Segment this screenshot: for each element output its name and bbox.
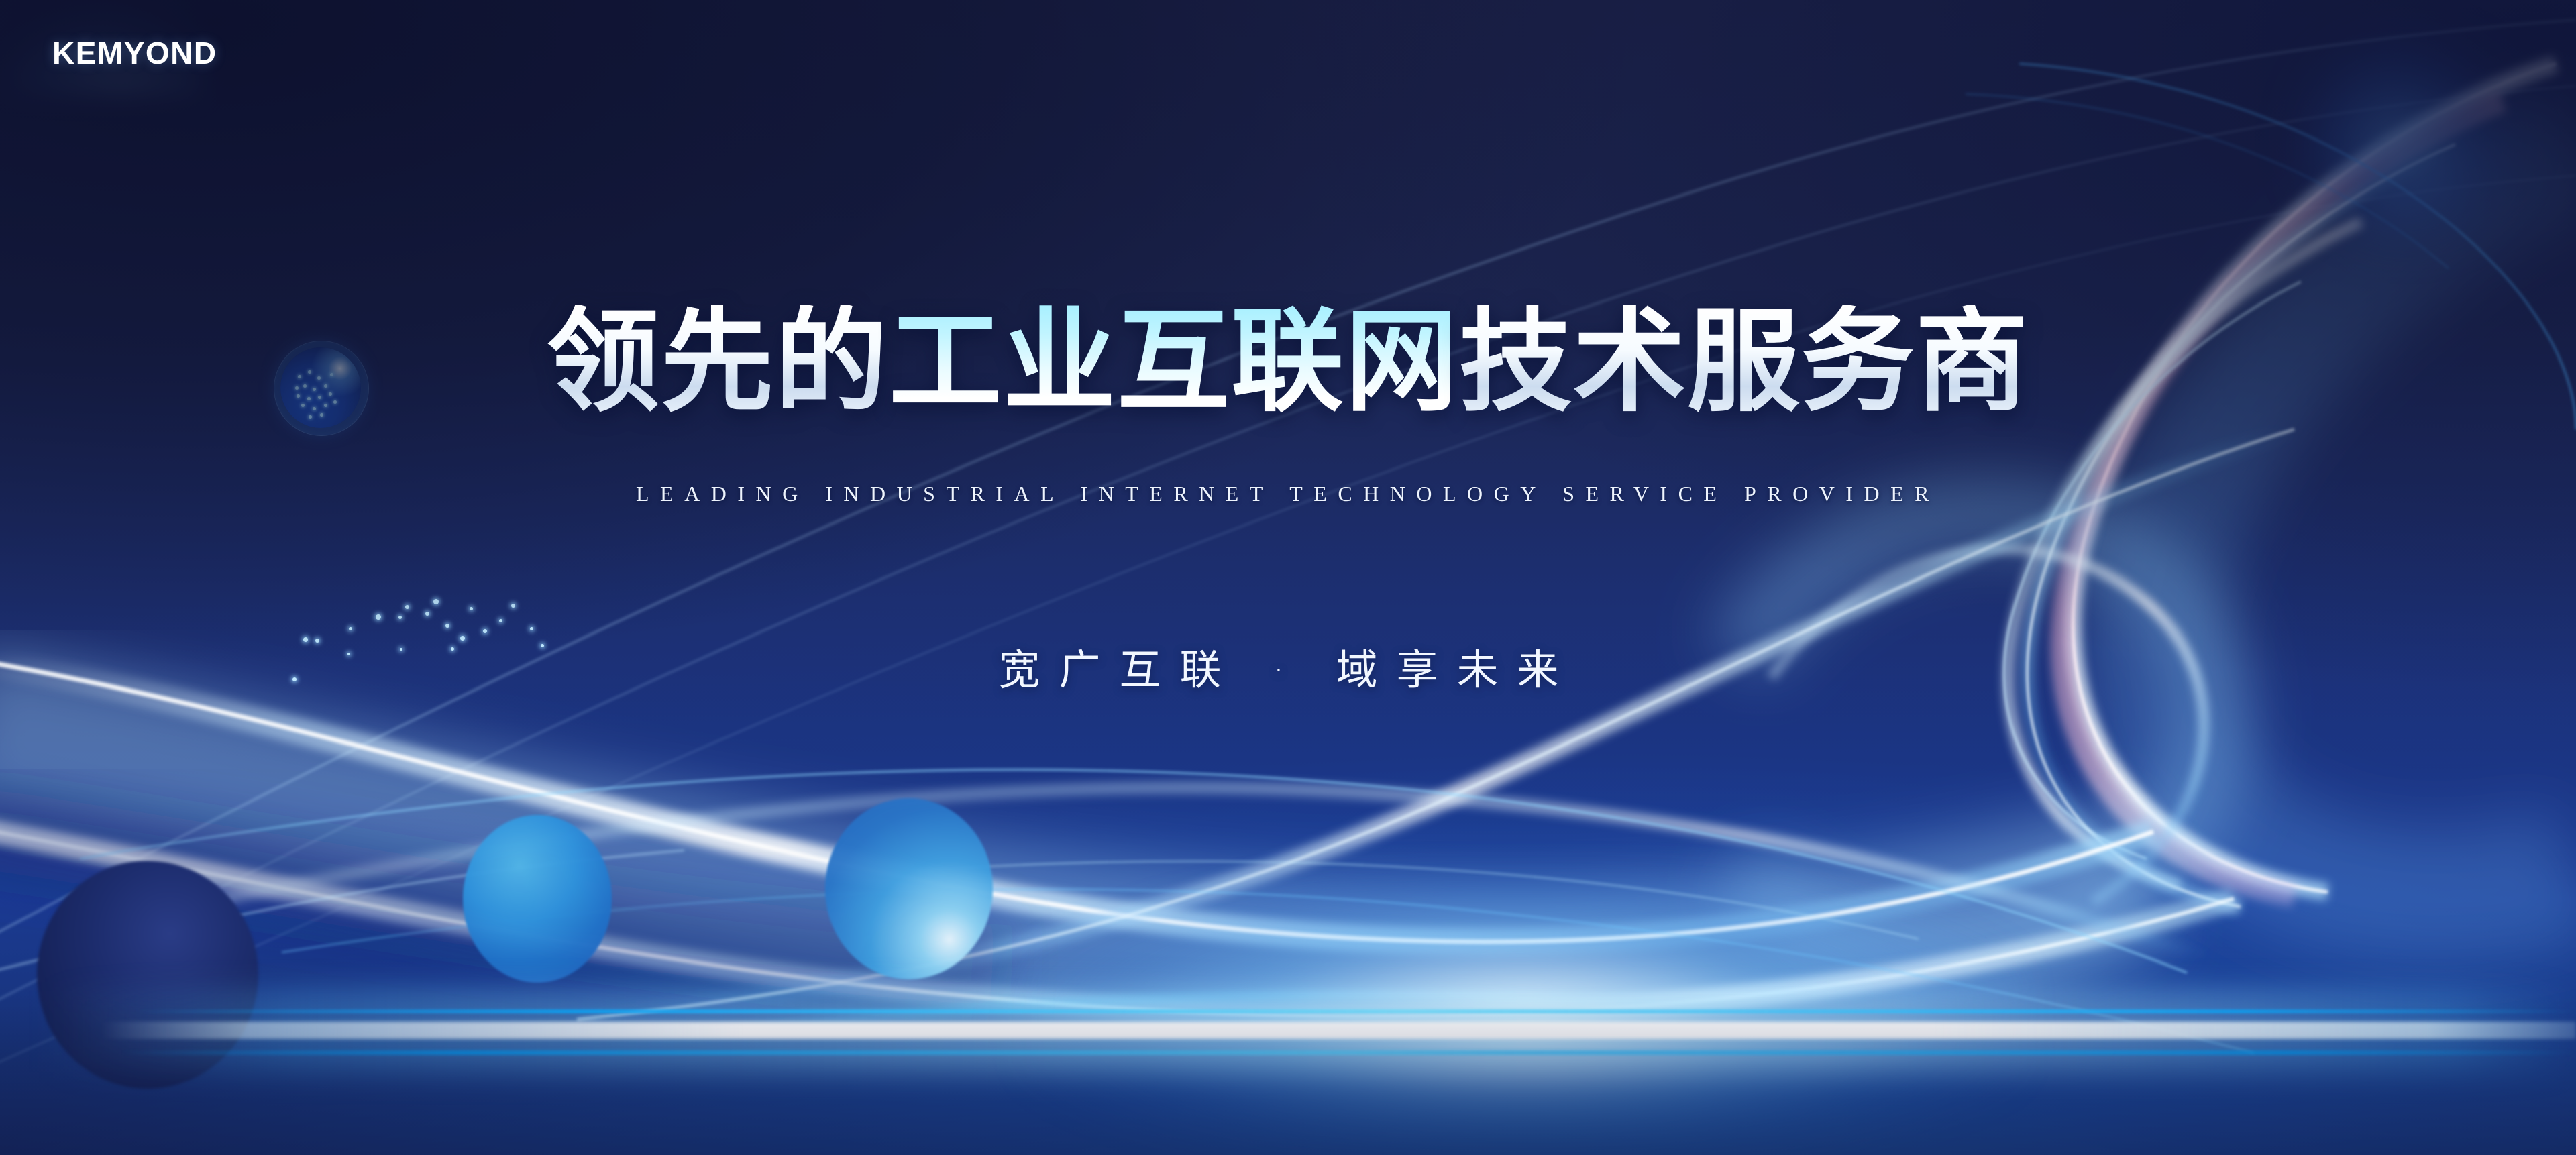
headline-segment-2: 工业互联网 — [889, 305, 1459, 418]
headline-subtitle: LEADING INDUSTRIAL INTERNET TECHNOLOGY S… — [0, 482, 2576, 506]
headline-segment-1: 领先的 — [547, 305, 889, 418]
banner-canvas: KEMYOND 领先的工业互联网技术服务商 LEADING INDUSTRIAL… — [0, 0, 2576, 1155]
banner-content: KEMYOND 领先的工业互联网技术服务商 LEADING INDUSTRIAL… — [0, 0, 2576, 1155]
brand-logo[interactable]: KEMYOND — [52, 35, 217, 71]
page-title: 领先的工业互联网技术服务商 — [0, 305, 2576, 418]
headline-segment-3: 技术服务商 — [1459, 305, 2029, 418]
brand-tagline: 宽广互联 · 域享未来 — [0, 636, 2576, 696]
